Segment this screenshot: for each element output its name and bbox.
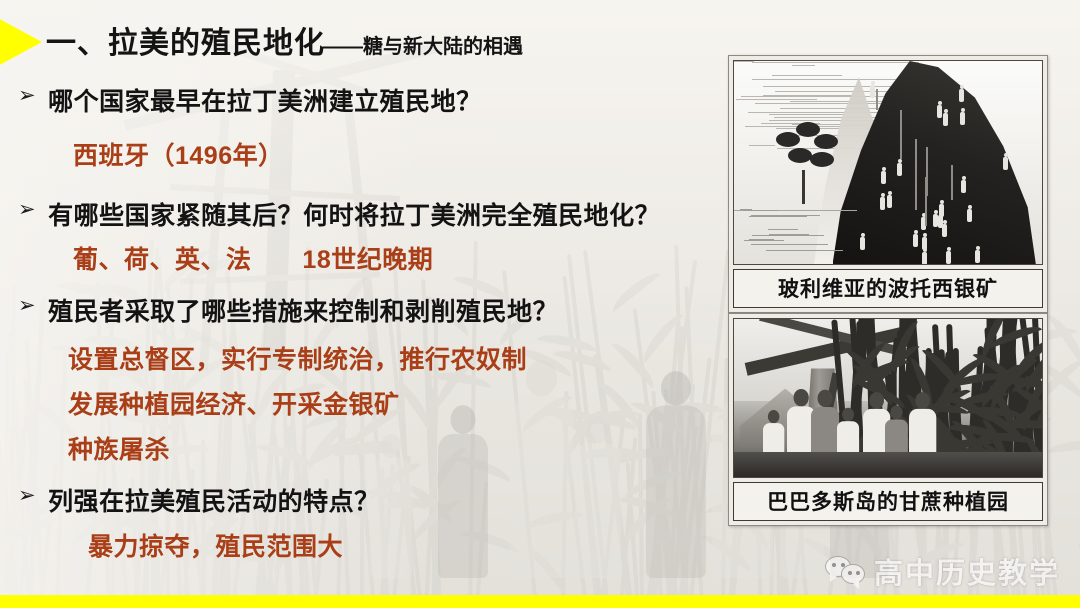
wechat-watermark: 高中历史教学 (825, 550, 1060, 592)
wechat-watermark-text: 高中历史教学 (874, 550, 1060, 592)
slide-root: 一、拉美的殖民地化 ——糖与新大陆的相遇 ➢ 哪个国家最早在拉丁美洲建立殖民地？… (0, 0, 1080, 608)
slide-body: ➢ 哪个国家最早在拉丁美洲建立殖民地？ 西班牙（1496年） ➢ 有哪些国家紧随… (0, 0, 740, 608)
picture-frame-potosi (733, 60, 1043, 265)
bullet-question-3-text: 殖民者采取了哪些措施来控制和剥削殖民地？ (48, 292, 558, 328)
bullet-answer-1-1: 西班牙（1496年） (73, 136, 284, 172)
bullet-question-3: ➢ 殖民者采取了哪些措施来控制和剥削殖民地？ (18, 292, 558, 328)
photo-barbados-sugarcane-plantation (734, 319, 1042, 477)
engraving-tree (762, 122, 848, 188)
bullet-arrow-icon: ➢ (18, 293, 36, 317)
bullet-answer-2-row: 葡、荷、英、法 18世纪晚期 (73, 240, 433, 276)
bullet-question-2-text: 有哪些国家紧随其后？何时将拉丁美洲完全殖民地化？ (48, 196, 660, 232)
picture-card-barbados-plantation: 巴巴多斯岛的甘蔗种植园 (728, 313, 1048, 526)
bullet-question-4-text: 列强在拉美殖民活动的特点？ (48, 482, 380, 518)
bullet-arrow-icon: ➢ (18, 197, 36, 221)
bullet-answer-3-3: 种族屠杀 (68, 430, 170, 466)
bullet-question-2: ➢ 有哪些国家紧随其后？何时将拉丁美洲完全殖民地化？ (18, 196, 660, 232)
bullet-question-1: ➢ 哪个国家最早在拉丁美洲建立殖民地？ (18, 82, 482, 118)
engraving-potosi-silver-mine (734, 61, 1042, 264)
bullet-arrow-icon: ➢ (18, 483, 36, 507)
photo-ground (734, 452, 1042, 477)
picture-frame-barbados (733, 318, 1043, 478)
bullet-question-1-text: 哪个国家最早在拉丁美洲建立殖民地？ (48, 82, 482, 118)
bullet-answer-2-1: 葡、荷、英、法 (73, 246, 252, 274)
bullet-answer-2-2: 18世纪晚期 (302, 246, 433, 274)
bullet-answer-4-1: 暴力掠夺，殖民范围大 (88, 527, 343, 563)
picture-card-potosi-silver-mine: 玻利维亚的波托西银矿 (728, 55, 1048, 313)
picture-caption-barbados: 巴巴多斯岛的甘蔗种植园 (733, 482, 1043, 521)
bullet-answer-3-2: 发展种植园经济、开采金银矿 (68, 385, 400, 421)
bullet-arrow-icon: ➢ (18, 83, 36, 107)
bullet-answer-3-1: 设置总督区，实行专制统治，推行农奴制 (68, 340, 527, 376)
bottom-yellow-bar (0, 595, 1080, 608)
engraving-valley-hatching (740, 209, 839, 258)
picture-caption-potosi: 玻利维亚的波托西银矿 (733, 269, 1043, 308)
wechat-icon (825, 555, 865, 587)
bullet-question-4: ➢ 列强在拉美殖民活动的特点？ (18, 482, 380, 518)
